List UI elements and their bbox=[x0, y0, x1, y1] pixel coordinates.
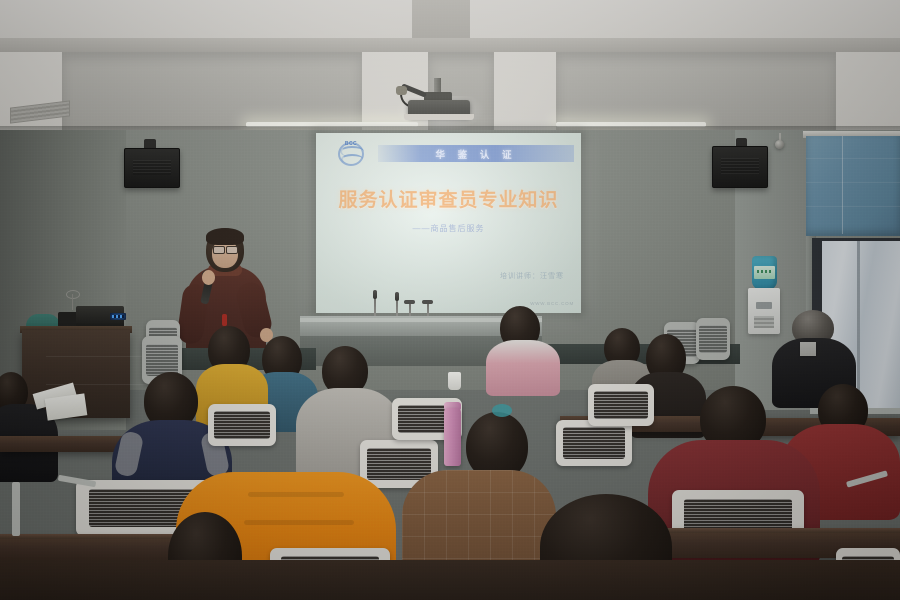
chair-mid-left-2[interactable] bbox=[208, 404, 276, 446]
puffer-seam-2 bbox=[244, 520, 354, 525]
attendee-pink-hoodie bbox=[486, 340, 560, 396]
av-mic-stand bbox=[72, 294, 73, 310]
hair-tie bbox=[492, 404, 512, 417]
ceiling-duct-box bbox=[412, 0, 470, 40]
mic-head-1 bbox=[373, 290, 377, 299]
slide-footer-text: WWW.BCC.COM bbox=[316, 301, 574, 306]
wall-speaker-right bbox=[712, 146, 768, 188]
chair-back-right-2[interactable] bbox=[696, 318, 730, 360]
wall-speaker-left bbox=[124, 148, 180, 188]
puffer-seam-1 bbox=[248, 492, 344, 497]
av-led-display bbox=[110, 313, 126, 320]
water-bottle-label bbox=[754, 266, 775, 279]
desk-mid-left bbox=[0, 436, 130, 452]
chair-post-left bbox=[12, 482, 20, 536]
presenter-glasses-left bbox=[213, 246, 225, 254]
chair-mid-center-3[interactable] bbox=[588, 384, 654, 426]
mic-base-3 bbox=[404, 300, 415, 304]
slide-banner-text: 华 鉴 认 证 bbox=[406, 147, 546, 161]
water-dispenser-tap[interactable] bbox=[756, 302, 772, 309]
water-dispenser-grill bbox=[754, 316, 774, 328]
presenter-hair bbox=[206, 228, 244, 245]
paper-cup bbox=[448, 372, 461, 390]
foreground-desk-surface bbox=[0, 560, 900, 600]
handout-paper-right bbox=[800, 342, 816, 356]
mic-base-4 bbox=[422, 300, 433, 304]
av-mic-ring bbox=[66, 290, 80, 299]
classroom-photo: 华 鉴 认 证 BCC 服务认证审查员专业知识 ——商品售后服务 培训讲师：汪雪… bbox=[0, 0, 900, 600]
blind-bottom-bar bbox=[806, 232, 900, 237]
slide-presenter-line: 培训讲师：汪雪寒 bbox=[316, 271, 564, 281]
pink-thermos bbox=[444, 408, 461, 466]
projector-knob bbox=[396, 86, 407, 95]
slide-logo-text: BCC bbox=[338, 141, 364, 147]
chair-mid-center-2[interactable] bbox=[556, 420, 632, 466]
presenter-lapel-pin bbox=[222, 314, 227, 326]
ceiling-beam bbox=[0, 38, 900, 52]
mic-head-2 bbox=[395, 292, 399, 301]
projector-base-plate bbox=[404, 114, 474, 120]
window-roller-blind[interactable] bbox=[806, 136, 900, 236]
projection-screen: 华 鉴 认 证 BCC 服务认证审查员专业知识 ——商品售后服务 培训讲师：汪雪… bbox=[316, 133, 581, 313]
presenter-hand-holding-mic bbox=[202, 270, 215, 285]
presenter-glasses-right bbox=[226, 246, 238, 254]
ceiling-dome-camera-icon bbox=[775, 140, 784, 149]
slide-title: 服务认证审查员专业知识 bbox=[316, 185, 581, 212]
window-mullion bbox=[857, 241, 860, 411]
blind-pull-chain[interactable] bbox=[842, 136, 843, 234]
slide-subtitle: ——商品售后服务 bbox=[316, 223, 581, 234]
